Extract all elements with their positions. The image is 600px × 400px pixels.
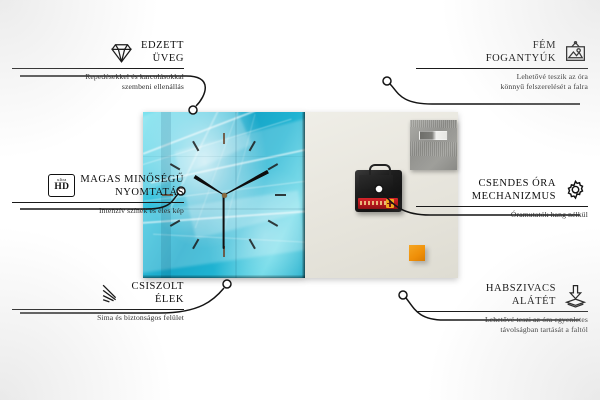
callout-title: EDZETT ÜVEG	[141, 40, 184, 65]
callout-csiszolt-elek[interactable]: CSISZOLT ÉLEK Sima és biztonságos felüle…	[12, 281, 184, 323]
arrow-down-onto-pad-icon	[563, 283, 588, 308]
diamond-icon	[109, 40, 134, 65]
clock-mechanism	[355, 170, 402, 212]
infographic-canvas: EDZETT ÜVEG Repedésekkel és karcolásokka…	[0, 0, 600, 400]
callout-title: CSISZOLT ÉLEK	[132, 281, 184, 306]
battery	[358, 198, 398, 209]
hd-badge-bottom: HD	[54, 183, 69, 193]
callout-habszivacs-alatet[interactable]: HABSZIVACS ALÁTÉT Lehetővé teszi az óra …	[416, 283, 588, 335]
callout-csendes-ora-mechanizmus[interactable]: CSENDES ÓRA MECHANIZMUS Óramutatók hang …	[416, 178, 588, 220]
callout-desc: Lehetővé teszi az óra egyenletes távolsá…	[416, 315, 588, 334]
callout-rule	[12, 309, 184, 310]
picture-frame-hanger-icon	[563, 40, 588, 65]
callout-fem-fogantyuk[interactable]: FÉM FOGANTYÚK Lehetővé teszik az óra kön…	[416, 40, 588, 92]
foam-spacer-pad	[409, 245, 425, 261]
callout-edzett-uveg[interactable]: EDZETT ÜVEG Repedésekkel és karcolásokka…	[12, 40, 184, 92]
product-photo	[143, 112, 458, 278]
callout-desc: Repedésekkel és karcolásokkal szembeni e…	[12, 72, 184, 91]
callout-title: HABSZIVACS ALÁTÉT	[486, 283, 556, 308]
callout-rule	[416, 311, 588, 312]
clock-second-hand	[223, 195, 225, 249]
callout-desc: Óramutatók hang nélkül	[416, 210, 588, 220]
callout-title: CSENDES ÓRA MECHANIZMUS	[472, 178, 556, 203]
callout-desc: Intenzív színek és éles kép	[12, 206, 184, 216]
callout-title: MAGAS MINŐSÉGŰ NYOMTATÁS	[80, 174, 184, 199]
clock-hand-cap	[222, 193, 227, 198]
callout-desc: Sima és biztonságos felület	[12, 313, 184, 323]
callout-title: FÉM FOGANTYÚK	[486, 40, 556, 65]
polished-edges-icon	[100, 281, 125, 306]
callout-magas-minosegu-nyomtatas[interactable]: ultra HD MAGAS MINŐSÉGŰ NYOMTATÁS Intenz…	[12, 174, 184, 216]
metal-hanger-bracket	[410, 120, 457, 170]
bracket-slot	[419, 131, 448, 140]
callout-rule	[416, 206, 588, 207]
ultra-hd-badge-icon: ultra HD	[48, 174, 73, 199]
mechanism-housing	[359, 175, 393, 189]
callout-rule	[416, 68, 588, 69]
callout-desc: Lehetővé teszik az óra könnyű felszerelé…	[416, 72, 588, 91]
callout-rule	[12, 202, 184, 203]
gear-icon	[563, 178, 588, 203]
callout-rule	[12, 68, 184, 69]
